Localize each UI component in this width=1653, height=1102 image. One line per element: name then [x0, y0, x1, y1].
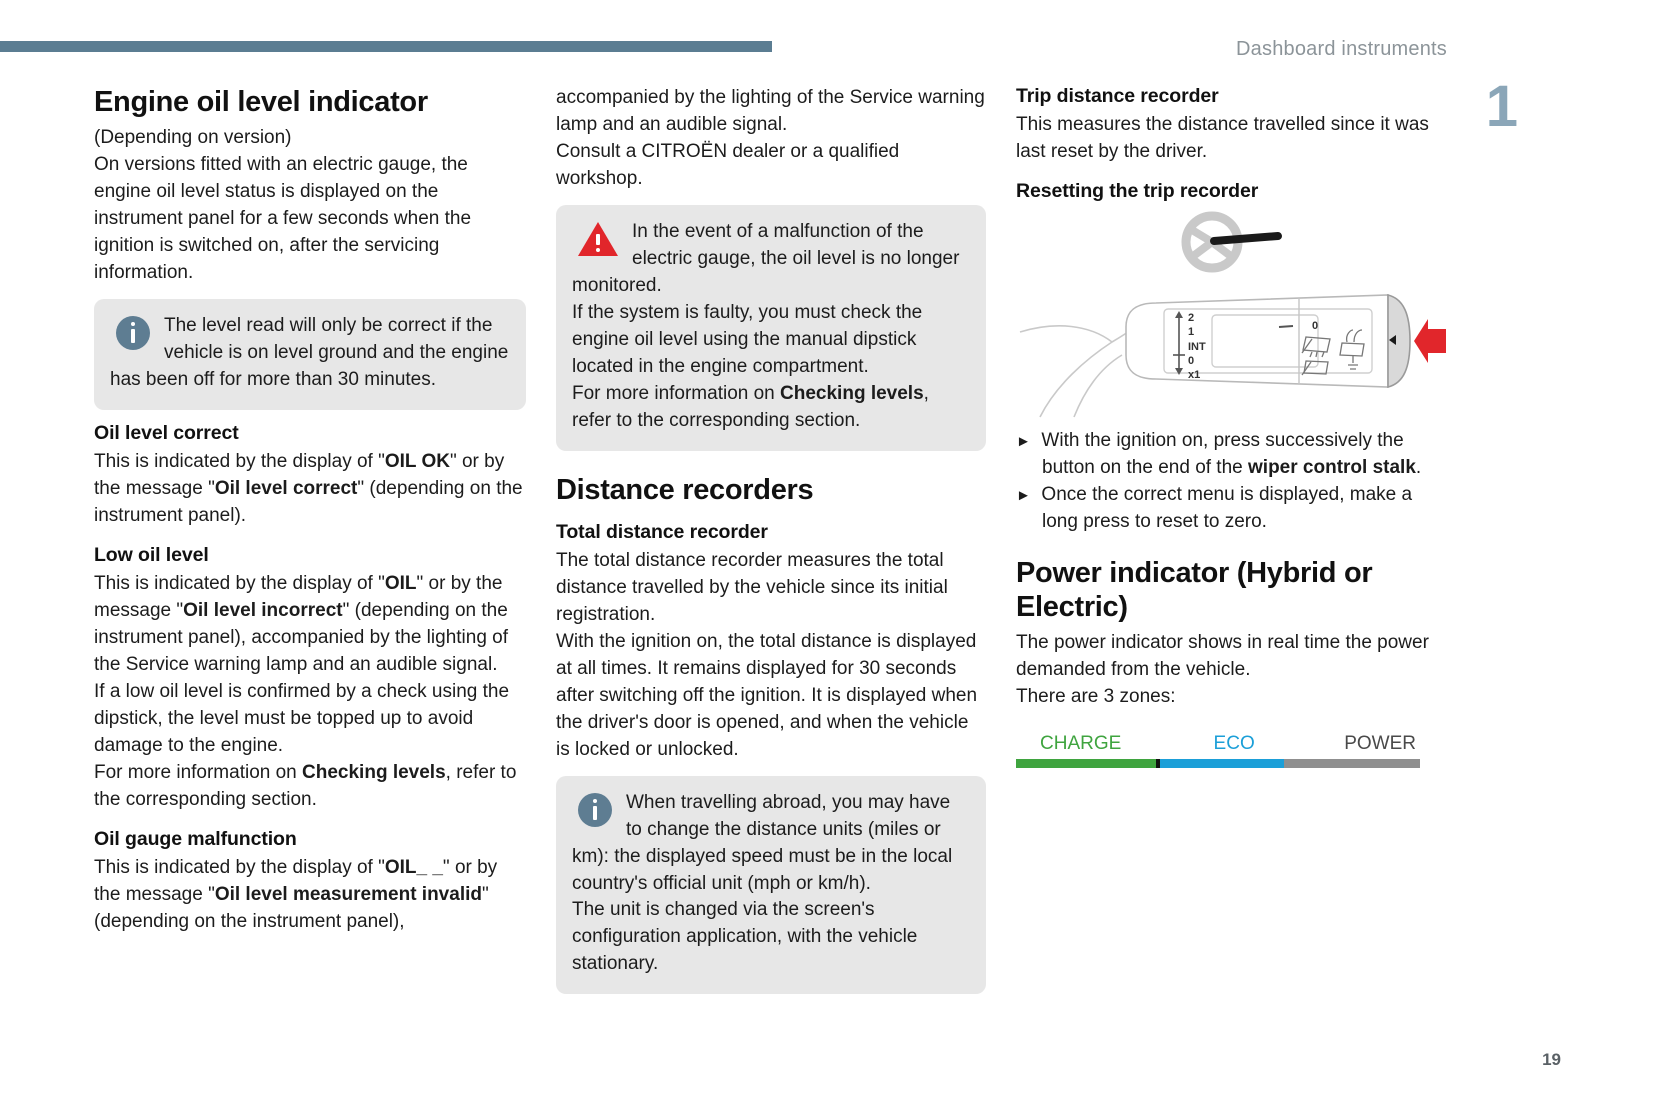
warning-icon [578, 222, 618, 256]
bullet-marker: ► [1016, 433, 1031, 450]
stalk-diagram-svg: 2 1 INT 0 x1 0 [1016, 209, 1446, 424]
distance-units-text-a: When travelling abroad, you may have to … [572, 790, 970, 898]
info-callout-text: The level read will only be correct if t… [110, 313, 510, 394]
txt: This is indicated by the display of " [94, 451, 385, 472]
stalk-mark-2: 2 [1188, 312, 1194, 324]
subheading-trip-distance-recorder: Trip distance recorder [1016, 85, 1446, 108]
page-number: 19 [1542, 1050, 1561, 1070]
chapter-number: 1 [1486, 78, 1518, 136]
message-oil-level-correct: Oil level correct [215, 478, 358, 499]
power-bar-segment-eco [1160, 759, 1284, 768]
column-2: accompanied by the lighting of the Servi… [556, 85, 986, 1004]
txt: For more information on [94, 762, 302, 783]
distance-units-text-b: The unit is changed via the screen's con… [572, 897, 970, 978]
txt: This is indicated by the display of " [94, 573, 385, 594]
red-arrow-left [1414, 319, 1446, 363]
low-oil-dipstick-text: If a low oil level is confirmed by a che… [94, 679, 526, 760]
wiper-control-stalk-illustration: 2 1 INT 0 x1 0 [1016, 209, 1446, 424]
column-1: Engine oil level indicator (Depending on… [94, 85, 526, 935]
subheading-oil-gauge-malfunction: Oil gauge malfunction [94, 828, 526, 851]
power-zone-label-charge: CHARGE [1016, 733, 1178, 755]
txt: . [1416, 457, 1421, 478]
bullet-item-2: ► Once the correct menu is displayed, ma… [1016, 482, 1446, 536]
continued-service-lamp-text: accompanied by the lighting of the Servi… [556, 85, 986, 139]
display-code-oil: OIL [385, 573, 417, 594]
stalk-mark-right-0: 0 [1312, 320, 1318, 332]
oil-level-correct-text: This is indicated by the display of "OIL… [94, 449, 526, 530]
message-oil-level-incorrect: Oil level incorrect [183, 600, 342, 621]
ref-checking-levels: Checking levels [302, 762, 446, 783]
trip-distance-text: This measures the distance travelled sin… [1016, 112, 1446, 166]
message-oil-level-measurement-invalid: Oil level measurement invalid [215, 884, 482, 905]
txt: Once the correct menu is displayed, make… [1041, 484, 1412, 532]
bullet-item-1: ► With the ignition on, press successive… [1016, 428, 1446, 482]
warning-text-b: If the system is faulty, you must check … [572, 300, 970, 381]
section-heading-engine-oil: Engine oil level indicator [94, 85, 526, 119]
warning-callout-electric-gauge: In the event of a malfunction of the ele… [556, 205, 986, 451]
power-indicator-text-1: The power indicator shows in real time t… [1016, 630, 1446, 684]
section-heading-power-indicator: Power indicator (Hybrid or Electric) [1016, 556, 1446, 624]
ref-checking-levels: Checking levels [780, 383, 924, 404]
total-distance-text-b: With the ignition on, the total distance… [556, 629, 986, 764]
display-code-oil-ok: OIL OK [385, 451, 450, 472]
power-bar-segment-charge [1016, 759, 1156, 768]
info-callout-level-read: The level read will only be correct if t… [94, 299, 526, 410]
power-bar-segment-power [1284, 759, 1420, 768]
stalk-mark-0: 0 [1188, 355, 1194, 367]
total-distance-text-a: The total distance recorder measures the… [556, 548, 986, 629]
power-bar-track [1016, 759, 1420, 768]
stalk-mark-1: 1 [1188, 326, 1194, 338]
info-callout-distance-units: When travelling abroad, you may have to … [556, 776, 986, 995]
depending-on-version-note: (Depending on version) [94, 125, 526, 152]
checking-levels-ref-1: For more information on Checking levels,… [94, 760, 526, 814]
ref-wiper-control-stalk: wiper control stalk [1248, 457, 1416, 478]
subheading-resetting-trip-recorder: Resetting the trip recorder [1016, 180, 1446, 203]
header-rule [0, 41, 772, 52]
section-heading-distance-recorders: Distance recorders [556, 473, 986, 507]
low-oil-level-text: This is indicated by the display of "OIL… [94, 571, 526, 679]
info-icon [116, 316, 150, 350]
manual-page: Dashboard instruments 1 19 Engine oil le… [0, 0, 1653, 1102]
stalk-mark-int: INT [1188, 341, 1206, 353]
bullet-marker: ► [1016, 487, 1031, 504]
txt: For more information on [572, 383, 780, 404]
power-zone-label-power: POWER [1291, 733, 1420, 755]
column-3: Trip distance recorder This measures the… [1016, 85, 1446, 768]
display-code-oil-dashes: OIL_ _ [385, 857, 443, 878]
stalk-mark-x1: x1 [1188, 369, 1200, 381]
subheading-total-distance-recorder: Total distance recorder [556, 521, 986, 544]
consult-dealer-text: Consult a CITROËN dealer or a qualified … [556, 139, 986, 193]
engine-oil-intro: On versions fitted with an electric gaug… [94, 152, 526, 287]
power-zone-label-eco: ECO [1178, 733, 1291, 755]
subheading-oil-level-correct: Oil level correct [94, 422, 526, 445]
txt: This is indicated by the display of " [94, 857, 385, 878]
page-header-title: Dashboard instruments [1236, 38, 1447, 61]
warning-checking-levels-ref: For more information on Checking levels,… [572, 381, 970, 435]
power-indicator-text-2: There are 3 zones: [1016, 684, 1446, 711]
oil-gauge-malfunction-text: This is indicated by the display of "OIL… [94, 855, 526, 936]
power-indicator-bar: CHARGE ECO POWER [1016, 733, 1420, 768]
power-bar-labels: CHARGE ECO POWER [1016, 733, 1420, 755]
subheading-low-oil-level: Low oil level [94, 544, 526, 567]
warning-text-a: In the event of a malfunction of the ele… [572, 219, 970, 300]
steering-wheel-icon [1186, 216, 1278, 268]
info-icon [578, 793, 612, 827]
